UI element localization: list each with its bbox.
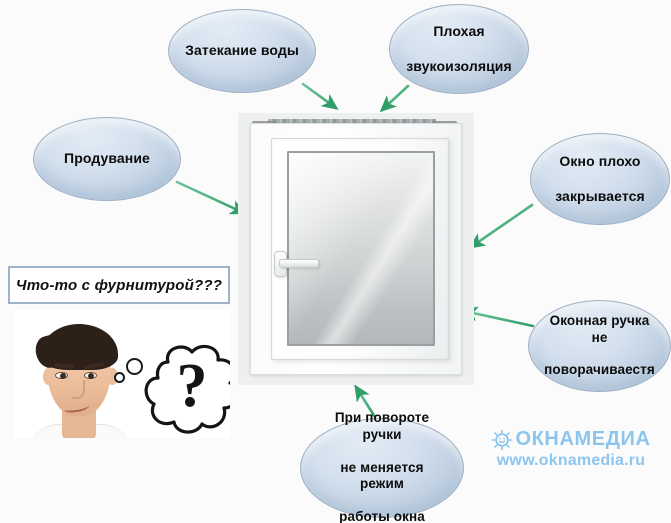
window-glass xyxy=(289,153,433,344)
thought-dot-small xyxy=(114,372,125,383)
caption-box: Что-то с фурнитурой??? xyxy=(8,266,230,304)
callout-poor-soundproofing-label: Плохая звукоизоляция xyxy=(386,23,532,74)
callout-poor-soundproofing[interactable]: Плохая звукоизоляция xyxy=(389,4,529,94)
logo-wordmark: ОКНАМЕДИА xyxy=(515,428,650,451)
arrow-handle xyxy=(464,311,533,326)
line-2: поворачиваестя xyxy=(534,362,665,378)
callout-water-leak[interactable]: Затекание воды xyxy=(168,9,316,93)
callout-handle-not-turning-label: Оконная ручка не поворачиваестя xyxy=(524,313,671,379)
line-1: Оконная ручка не xyxy=(534,313,665,346)
line-2: звукоизоляция xyxy=(396,58,522,75)
callout-window-closes-badly[interactable]: Окно плохо закрывается xyxy=(530,133,670,225)
pvc-window-image xyxy=(238,113,474,385)
window-frame xyxy=(250,123,462,375)
arrow-water xyxy=(303,84,336,108)
caption-text: Что-то с фурнитурой??? xyxy=(16,277,222,294)
arrow-sound xyxy=(382,86,408,110)
line-2: не меняется режим xyxy=(311,460,453,493)
window-handle xyxy=(279,259,319,268)
line-1: Окно плохо xyxy=(545,153,655,170)
callout-water-leak-label: Затекание воды xyxy=(175,42,309,59)
man-pupil-left xyxy=(60,373,66,379)
arrow-close xyxy=(471,205,532,247)
arrow-draught xyxy=(177,182,244,213)
logo-url[interactable]: www.oknamedia.ru xyxy=(484,452,658,470)
line-2: закрывается xyxy=(545,188,655,205)
callout-mode-not-changing[interactable]: При повороте ручки не меняется режим раб… xyxy=(300,418,464,518)
callout-draught-label: Продувание xyxy=(54,150,160,167)
line-1: При повороте ручки xyxy=(311,410,453,443)
man-thinking-photo: ? xyxy=(14,310,230,438)
callout-mode-not-changing-label: При повороте ручки не меняется режим раб… xyxy=(301,410,463,523)
man-pupil-right xyxy=(88,373,94,379)
hardware-question-card: Что-то с фурнитурой??? ? xyxy=(6,266,234,438)
callout-handle-not-turning[interactable]: Оконная ручка не поворачиваестя xyxy=(528,300,671,392)
callout-window-closes-badly-label: Окно плохо закрывается xyxy=(535,153,665,204)
thought-question-mark: ? xyxy=(177,352,208,420)
line-1: Плохая xyxy=(396,23,522,40)
window-sash xyxy=(271,138,449,360)
line-3: работы окна xyxy=(311,509,453,523)
man-nose xyxy=(71,380,85,399)
infographic-canvas: Затекание воды Плохая звукоизоляция Прод… xyxy=(0,0,671,523)
callout-draught[interactable]: Продувание xyxy=(33,117,181,201)
thought-cloud: ? xyxy=(138,340,230,438)
glazing-bead xyxy=(287,151,435,346)
sun-smiley-icon xyxy=(491,429,513,451)
brand-logo[interactable]: ОКНАМЕДИА www.oknamedia.ru xyxy=(484,428,658,478)
